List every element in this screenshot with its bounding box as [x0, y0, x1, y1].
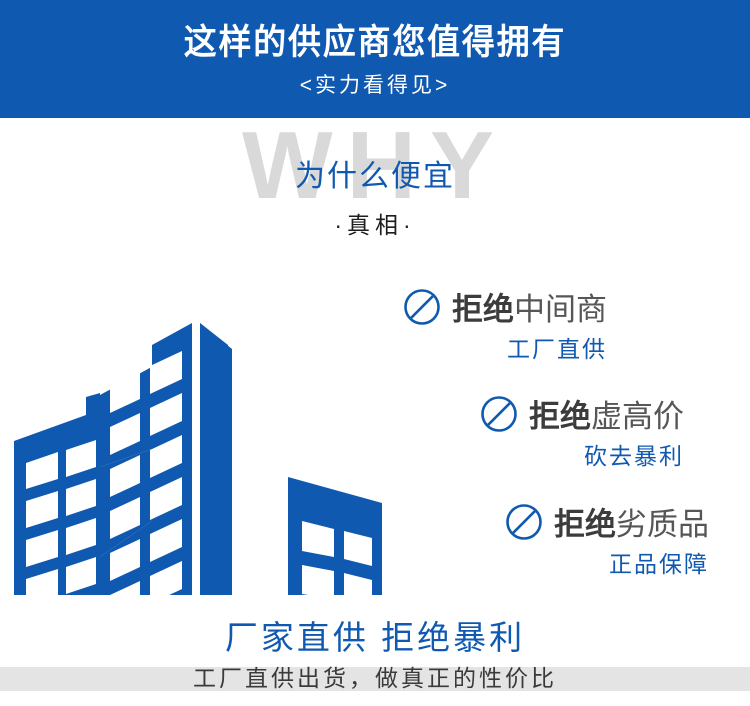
- feature-title-strong: 拒绝: [529, 398, 591, 436]
- feature-item-3: 拒绝 劣质品 正品保障: [505, 503, 709, 579]
- feature-subtitle: 工厂直供: [403, 334, 607, 364]
- footer-tagline: 工厂直供出货，做真正的性价比: [0, 663, 750, 693]
- banner-subtitle: <实力看得见>: [0, 64, 750, 99]
- feature-item-2: 拒绝 虚高价 砍去暴利: [480, 395, 684, 471]
- why-section: WHY 为什么便宜 ·真相·: [0, 118, 750, 248]
- feature-list: 拒绝 中间商 工厂直供 拒绝 虚高价 砍去暴利 拒绝: [395, 288, 750, 588]
- city-buildings-illustration: [0, 245, 400, 635]
- feature-title-row: 拒绝 劣质品: [505, 503, 709, 546]
- feature-title-rest: 虚高价: [591, 398, 684, 436]
- feature-title-rest: 中间商: [514, 291, 607, 329]
- truth-label: ·真相·: [0, 210, 750, 240]
- no-entry-circle-slash-icon: [403, 288, 441, 331]
- no-entry-circle-slash-icon: [505, 503, 543, 546]
- no-entry-circle-slash-icon: [480, 395, 518, 438]
- buildings-svg: [0, 245, 400, 635]
- feature-title-row: 拒绝 虚高价: [480, 395, 684, 438]
- feature-title-rest: 劣质品: [616, 506, 709, 544]
- feature-title-strong: 拒绝: [554, 506, 616, 544]
- feature-subtitle: 正品保障: [505, 549, 709, 579]
- why-heading: 为什么便宜: [0, 158, 750, 196]
- banner-title: 这样的供应商您值得拥有: [23, 0, 728, 64]
- tower-gap: [192, 327, 200, 595]
- feature-title-row: 拒绝 中间商: [403, 288, 607, 331]
- feature-title-strong: 拒绝: [452, 291, 514, 329]
- header-banner: 这样的供应商您值得拥有 <实力看得见>: [0, 0, 750, 118]
- center-tower-right-face: [200, 323, 232, 595]
- feature-item-1: 拒绝 中间商 工厂直供: [403, 288, 607, 364]
- footer-headline: 厂家直供 拒绝暴利: [0, 618, 750, 658]
- feature-subtitle: 砍去暴利: [480, 441, 684, 471]
